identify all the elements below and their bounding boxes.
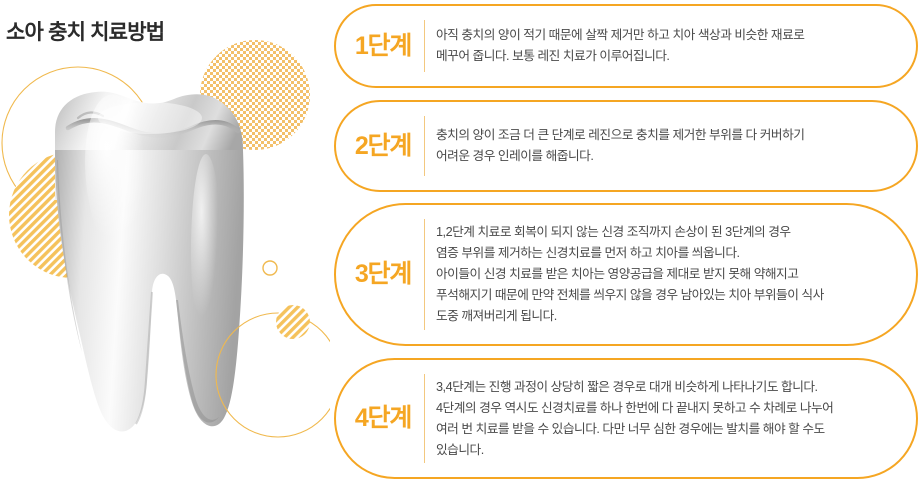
step-body-2: 충치의 양이 조금 더 큰 단계로 레진으로 충치를 제거한 부위를 다 커버하… [425, 125, 916, 167]
step-text-line: 아직 충치의 양이 적기 때문에 살짝 제거만 하고 치아 색상과 비슷한 재료… [436, 25, 898, 46]
step-text-line: 메꾸어 줍니다. 보통 레진 치료가 이루어집니다. [436, 46, 898, 67]
step-body-1: 아직 충치의 양이 적기 때문에 살짝 제거만 하고 치아 색상과 비슷한 재료… [425, 25, 916, 67]
infographic-page: 소아 충치 치료방법 [0, 0, 920, 484]
step-box-3[interactable]: 3단계 1,2단계 치료로 회복이 되지 않는 신경 조직까지 손상이 된 3단… [334, 203, 918, 346]
step-label-2: 2단계 [336, 134, 424, 159]
step-text-line: 아이들이 신경 치료를 받은 치아는 영양공급을 제대로 받지 못해 약해지고 [436, 264, 898, 285]
tooth-highlight-secondary [191, 154, 221, 346]
step-text-line: 어려운 경우 인레이를 해줍니다. [436, 146, 898, 167]
step-text-line: 4단계의 경우 역시도 신경치료를 하나 한번에 다 끝내지 못하고 수 차례로… [436, 398, 898, 419]
step-label-3: 3단계 [336, 262, 424, 287]
step-text-line: 3,4단계는 진행 과정이 상당히 짧은 경우로 대개 비슷하게 나타나기도 합… [436, 377, 898, 398]
step-label-1: 1단계 [336, 34, 424, 59]
step-text-line: 도중 깨져버리게 됩니다. [436, 306, 898, 327]
tooth-illustration-panel [0, 0, 330, 484]
step-label-4: 4단계 [336, 406, 424, 431]
step-text-line: 1,2단계 치료로 회복이 되지 않는 신경 조직까지 손상이 된 3단계의 경… [436, 222, 898, 243]
treatment-steps-list: 1단계 아직 충치의 양이 적기 때문에 살짝 제거만 하고 치아 색상과 비슷… [334, 0, 920, 484]
step-body-3: 1,2단계 치료로 회복이 되지 않는 신경 조직까지 손상이 된 3단계의 경… [425, 222, 916, 327]
small-ring [263, 261, 277, 275]
striped-circle-small [276, 305, 310, 339]
step-text-line: 충치의 양이 조금 더 큰 단계로 레진으로 충치를 제거한 부위를 다 커버하… [436, 125, 898, 146]
step-text-line: 푸석해지기 때문에 만약 전체를 씌우지 않을 경우 남아있는 치아 부위들이 … [436, 285, 898, 306]
tooth-illustration-svg [0, 0, 330, 484]
tooth-shape [55, 91, 244, 432]
tooth-highlight-crown [98, 102, 202, 134]
step-text-line: 여러 번 치료를 받을 수 있습니다. 다만 너무 심한 경우에는 발치를 해야… [436, 419, 898, 440]
step-box-2[interactable]: 2단계 충치의 양이 조금 더 큰 단계로 레진으로 충치를 제거한 부위를 다… [334, 100, 918, 192]
step-box-1[interactable]: 1단계 아직 충치의 양이 적기 때문에 살짝 제거만 하고 치아 색상과 비슷… [334, 4, 918, 88]
step-body-4: 3,4단계는 진행 과정이 상당히 짧은 경우로 대개 비슷하게 나타나기도 합… [425, 377, 916, 461]
step-text-line: 염증 부위를 제거하는 신경치료를 먼저 하고 치아를 씌웁니다. [436, 243, 898, 264]
step-text-line: 있습니다. [436, 440, 898, 461]
step-box-4[interactable]: 4단계 3,4단계는 진행 과정이 상당히 짧은 경우로 대개 비슷하게 나타나… [334, 358, 918, 479]
